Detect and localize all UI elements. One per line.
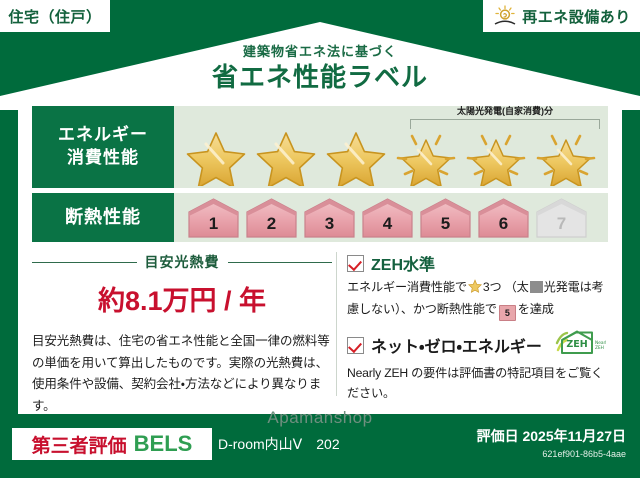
star-6-solar: [532, 128, 600, 186]
zeh-block: ZEH水準 エネルギー消費性能で 3つ （太光発電は考慮しない）、かつ断熱性能で…: [347, 248, 608, 400]
insulation-performance-row: 断熱性能 1: [32, 193, 608, 242]
utility-cost-block: 目安光熱費 約8.1万円 / 年 目安光熱費は、住宅の省エネ性能と全国一律の燃料…: [32, 248, 332, 400]
label-footer: Apamanshop 第三者評価 BELS D-room内山Ⅴ 202 評価日 …: [0, 414, 640, 478]
insulation-grade-4: 4: [360, 197, 415, 239]
svg-text:ZEH: ZEH: [595, 345, 604, 351]
energy-performance-body: 太陽光発電(自家消費)分: [174, 106, 608, 188]
insulation-performance-label: 断熱性能: [32, 193, 174, 242]
checkmark-icon-zeh-standard: [347, 255, 364, 272]
insulation-grade-7-value: 7: [557, 214, 566, 239]
net-zero-energy-row: ネット・ゼロ・エネルギー ZEH Nearly ZEH: [347, 330, 608, 361]
label-title: 省エネ性能ラベル: [0, 57, 640, 94]
insulation-grade-1-value: 1: [209, 214, 218, 239]
insulation-grade-2-value: 2: [267, 214, 276, 239]
insulation-grade-3: 3: [302, 197, 357, 239]
energy-performance-row: エネルギー 消費性能 太陽光発電(自家消費)分: [32, 106, 608, 188]
solar-caption: 太陽光発電(自家消費)分: [410, 104, 600, 117]
zeh-badge-icon: ZEH Nearly ZEH: [554, 330, 606, 361]
insulation-grade-5-value: 5: [441, 214, 450, 239]
sun-icon: [492, 5, 518, 27]
renewable-energy-chip: 再エネ設備あり: [483, 0, 640, 32]
housing-type-chip: 住宅（住戸）: [0, 0, 110, 32]
zeh-standard-row: ZEH水準: [347, 251, 608, 275]
insulation-grade-4-value: 4: [383, 214, 392, 239]
bels-logo: 第三者評価 BELS: [12, 428, 212, 460]
evaluation-info: 評価日 2025年11月27日 621ef901-86b5-4aae: [477, 426, 626, 459]
energy-label-line2: 消費性能: [67, 147, 139, 170]
heading-rule-left: [32, 262, 137, 263]
insulation-grade-1: 1: [186, 197, 241, 239]
label-body-card: エネルギー 消費性能 太陽光発電(自家消費)分: [18, 96, 622, 414]
bels-logo-jp: 第三者評価: [32, 431, 127, 458]
renewable-energy-label: 再エネ設備あり: [522, 6, 631, 27]
zeh-standard-text-d: を達成: [518, 302, 554, 316]
insulation-grade-3-value: 3: [325, 214, 334, 239]
zeh-standard-text-b: 3つ （太: [483, 280, 529, 294]
redacted-character-mask: [530, 281, 543, 293]
svg-text:ZEH: ZEH: [566, 339, 587, 350]
net-zero-energy-title: ネット・ゼロ・エネルギー: [371, 333, 542, 357]
insulation-grade-scale: 1 2 3: [186, 195, 598, 240]
energy-label-line1: エネルギー: [58, 124, 148, 147]
utility-cost-value: 約8.1万円 / 年: [32, 279, 332, 318]
star-1-filled: [182, 128, 250, 186]
label-details-section: 目安光熱費 約8.1万円 / 年 目安光熱費は、住宅の省エネ性能と全国一律の燃料…: [32, 248, 608, 400]
insulation-performance-body: 1 2 3: [174, 193, 608, 242]
insulation-grade-6: 6: [476, 197, 531, 239]
vertical-divider: [336, 252, 337, 396]
evaluation-id: 621ef901-86b5-4aae: [477, 449, 626, 459]
star-3-filled: [322, 128, 390, 186]
energy-star-rating: [182, 128, 602, 186]
evaluation-date: 評価日 2025年11月27日: [477, 426, 626, 446]
insulation-grade-6-value: 6: [499, 214, 508, 239]
insulation-grade-7: 7: [534, 197, 589, 239]
zeh-standard-text-a: エネルギー消費性能で: [347, 280, 467, 294]
utility-cost-heading: 目安光熱費: [32, 252, 332, 272]
energy-performance-label: エネルギー 消費性能: [32, 106, 174, 188]
building-name: D-room内山Ⅴ 202: [218, 434, 340, 454]
watermark: Apamanshop: [0, 408, 640, 428]
inline-star-icon: [468, 279, 482, 300]
insulation-grade-2: 2: [244, 197, 299, 239]
utility-cost-note: 目安光熱費は、住宅の省エネ性能と全国一律の燃料等の単価を用いて算出したものです。…: [32, 331, 332, 417]
zeh-standard-title: ZEH水準: [371, 251, 435, 275]
inline-insulation-grade-badge: 5: [499, 305, 516, 321]
utility-cost-heading-text: 目安光熱費: [145, 252, 220, 272]
bels-energy-label: 住宅（住戸） 再エネ設備あり 建築物省エネ法に基づく 省エネ性能ラベル: [0, 0, 640, 478]
heading-rule-right: [228, 262, 333, 263]
bels-logo-en: BELS: [134, 431, 193, 457]
star-2-filled: [252, 128, 320, 186]
net-zero-energy-description: Nearly ZEH の要件は評価書の特記項目をご覧ください。: [347, 364, 608, 404]
checkmark-icon-net-zero: [347, 337, 364, 354]
star-5-solar: [462, 128, 530, 186]
zeh-standard-description: エネルギー消費性能で 3つ （太光発電は考慮しない）、かつ断熱性能で5を達成: [347, 278, 608, 321]
housing-type-label: 住宅（住戸）: [8, 6, 101, 27]
insulation-grade-5: 5: [418, 197, 473, 239]
star-4-solar: [392, 128, 460, 186]
